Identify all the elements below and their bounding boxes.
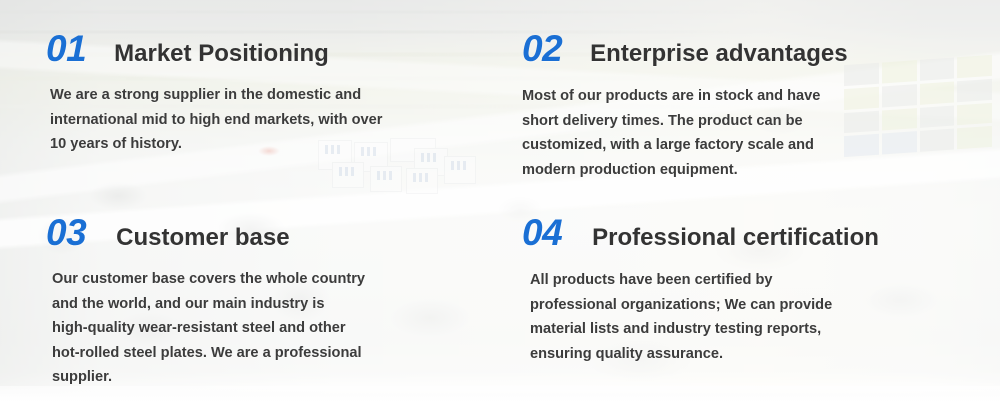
card-title: Professional certification [592,226,879,250]
card-body-line: and the world, and our main industry is [52,292,456,317]
card-number: 02 [522,30,562,67]
company-highlights-banner: 01 Market Positioning We are a strong su… [0,0,1000,402]
card-body-line: ensuring quality assurance. [530,342,950,367]
card-body-line: 10 years of history. [50,132,484,157]
card-body-line: Most of our products are in stock and ha… [522,84,926,109]
highlight-cards-grid: 01 Market Positioning We are a strong su… [0,0,1000,402]
card-body: We are a strong supplier in the domestic… [50,83,484,157]
card-body-line: professional organizations; We can provi… [530,293,950,318]
card-body-line: Our customer base covers the whole count… [52,267,456,292]
card-body-line: customized, with a large factory scale a… [522,133,926,158]
highlight-card-customer-base: 03 Customer base Our customer base cover… [46,214,498,390]
card-number: 04 [522,214,562,251]
card-body-line: We are a strong supplier in the domestic… [50,83,484,108]
card-number: 03 [46,214,86,251]
card-body: Most of our products are in stock and ha… [522,84,926,182]
card-title: Enterprise advantages [590,42,847,66]
card-body-line: modern production equipment. [522,158,926,183]
card-body-line: hot-rolled steel plates. We are a profes… [52,341,456,366]
card-header: 04 Professional certification [522,214,978,251]
card-body-line: high-quality wear-resistant steel and ot… [52,316,456,341]
highlight-card-professional-certification: 04 Professional certification All produc… [522,214,978,366]
card-body-line: international mid to high end markets, w… [50,108,484,133]
card-body-line: All products have been certified by [530,268,950,293]
card-body-line: material lists and industry testing repo… [530,317,950,342]
highlight-card-market-positioning: 01 Market Positioning We are a strong su… [46,30,498,157]
card-header: 02 Enterprise advantages [522,30,978,67]
card-body-line: supplier. [52,365,456,390]
card-body: All products have been certified by prof… [530,268,950,366]
card-title: Market Positioning [114,42,329,66]
card-header: 01 Market Positioning [46,30,498,67]
highlight-card-enterprise-advantages: 02 Enterprise advantages Most of our pro… [522,30,978,182]
card-title: Customer base [116,226,289,250]
card-number: 01 [46,30,86,67]
card-header: 03 Customer base [46,214,498,251]
card-body: Our customer base covers the whole count… [52,267,456,390]
card-body-line: short delivery times. The product can be [522,109,926,134]
